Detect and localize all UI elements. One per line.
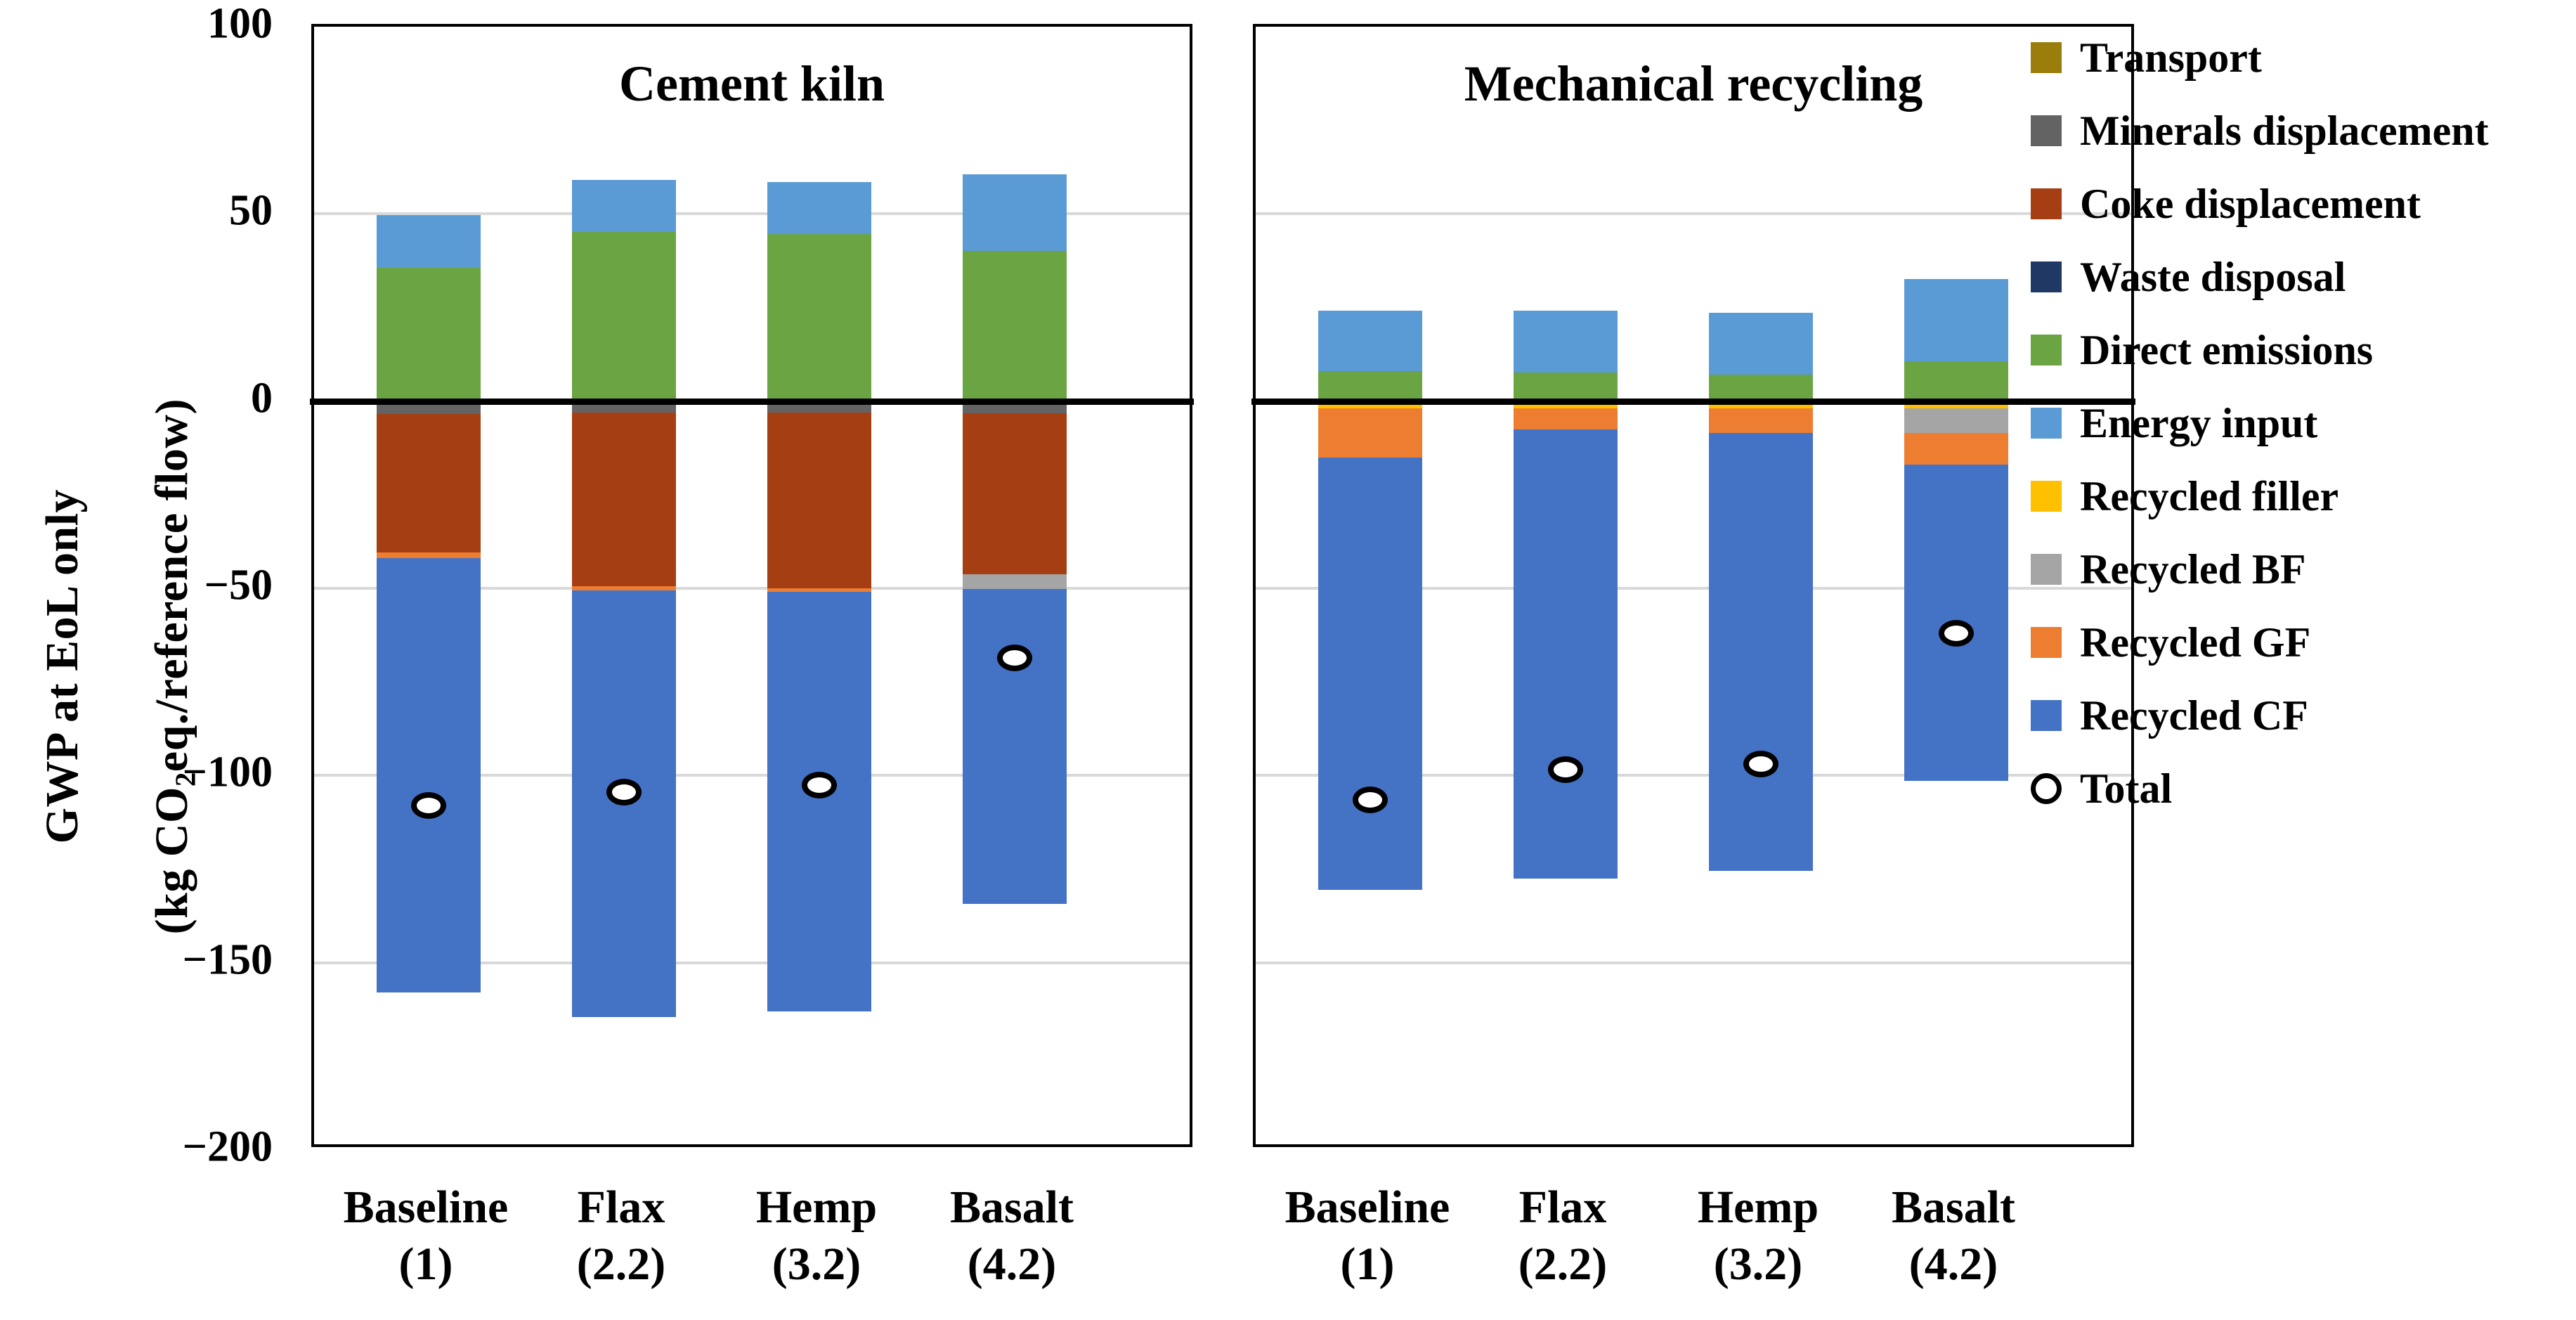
x-axis-category-label: Basalt(4.2) [950, 1179, 1074, 1293]
legend-item[interactable]: Waste disposal [2031, 240, 2565, 313]
bar-segment [963, 413, 1067, 574]
legend-color-swatch-icon [2031, 261, 2062, 292]
total-marker [997, 645, 1032, 671]
x-label-code: (2.2) [1518, 1236, 1607, 1293]
legend-item-label: Total [2080, 765, 2172, 813]
y-axis-tick-label: 0 [251, 373, 273, 423]
bar-segment [1318, 371, 1422, 399]
legend-item[interactable]: Recycled GF [2031, 606, 2565, 679]
zero-axis-line [310, 399, 1194, 405]
total-marker [411, 792, 446, 819]
zero-axis-line [1251, 399, 2135, 405]
x-label-code: (2.2) [577, 1236, 665, 1293]
legend-item[interactable]: Recycled BF [2031, 533, 2565, 606]
bar-segment [1514, 311, 1618, 373]
bar-segment [572, 232, 676, 399]
legend-item[interactable]: Minerals displacement [2031, 94, 2565, 167]
x-axis-category-label: Basalt(4.2) [1892, 1179, 2015, 1293]
total-marker [1939, 620, 1974, 647]
legend-item[interactable]: Recycled filler [2031, 460, 2565, 533]
total-marker [802, 772, 837, 798]
legend-color-swatch-icon [2031, 554, 2062, 585]
legend-item-label: Recycled CF [2080, 692, 2308, 740]
y-axis-tick-label: 100 [207, 0, 273, 49]
legend-item-label: Waste disposal [2080, 253, 2346, 302]
bar-segment [377, 268, 481, 399]
legend-color-swatch-icon [2031, 115, 2062, 146]
bar-segment [1904, 279, 2008, 361]
y-axis-tick-label: −100 [183, 748, 273, 798]
legend-item[interactable]: Total [2031, 752, 2565, 825]
bar-stack[interactable] [377, 27, 481, 1150]
bar-segment [1318, 458, 1422, 890]
y-axis-tick-label: −50 [204, 561, 273, 611]
bar-segment [572, 180, 676, 233]
plot-area-right [1256, 27, 2131, 1144]
x-label-code: (1) [1285, 1236, 1450, 1293]
bar-stack[interactable] [1318, 27, 1422, 1150]
bar-segment [377, 552, 481, 558]
legend-color-swatch-icon [2031, 188, 2062, 219]
bar-segment [1514, 373, 1618, 399]
x-label-name: Hemp [756, 1179, 877, 1236]
x-label-name: Flax [1518, 1179, 1607, 1236]
bar-segment [1904, 433, 2008, 465]
total-marker [1353, 787, 1388, 813]
x-label-name: Flax [577, 1179, 665, 1236]
bar-stack[interactable] [767, 27, 871, 1150]
legend-color-swatch-icon [2031, 481, 2062, 512]
bar-segment [963, 574, 1067, 589]
bar-stack[interactable] [1514, 27, 1618, 1150]
legend-item-label: Energy input [2080, 399, 2317, 448]
x-label-name: Baseline [1285, 1179, 1450, 1236]
y-axis-tick-label: 50 [229, 186, 273, 236]
x-label-code: (4.2) [1892, 1236, 2015, 1293]
plot-area-left [314, 27, 1190, 1144]
legend-color-swatch-icon [2031, 700, 2062, 731]
x-label-code: (4.2) [950, 1236, 1074, 1293]
x-axis-category-label: Flax(2.2) [577, 1179, 665, 1293]
bar-segment [377, 215, 481, 268]
legend-color-swatch-icon [2031, 335, 2062, 365]
panel-cement-kiln: Cement kiln [311, 24, 1192, 1147]
x-label-code: (3.2) [1698, 1236, 1819, 1293]
total-marker [606, 779, 642, 805]
bar-segment [377, 558, 481, 992]
bar-segment [963, 589, 1067, 903]
chart-figure: GWP at EoL only (kg CO2eq./reference flo… [0, 0, 2576, 1319]
x-label-name: Hemp [1698, 1179, 1819, 1236]
bar-segment [767, 592, 871, 1011]
x-axis-category-label: Hemp(3.2) [1698, 1179, 1819, 1293]
bar-segment [1904, 361, 2008, 399]
x-label-code: (3.2) [756, 1236, 877, 1293]
legend-item-label: Recycled BF [2080, 545, 2306, 594]
y-axis-tick-labels: 100500−50−100−150−200 [141, 0, 281, 1195]
x-axis-category-label: Baseline(1) [344, 1179, 509, 1293]
total-marker [1743, 751, 1778, 777]
legend-color-swatch-icon [2031, 627, 2062, 658]
bar-segment [767, 234, 871, 399]
bar-segment [767, 182, 871, 235]
y-axis-title-line1: GWP at EoL only [37, 489, 88, 843]
bar-segment [377, 414, 481, 552]
y-axis-tick-label: −150 [183, 935, 273, 985]
total-marker [1548, 756, 1583, 783]
legend-item-label: Recycled GF [2080, 619, 2310, 667]
legend-color-swatch-icon [2031, 408, 2062, 439]
legend-item-label: Transport [2080, 34, 2262, 82]
legend: TransportMinerals displacementCoke displ… [2031, 21, 2565, 825]
legend-item[interactable]: Energy input [2031, 387, 2565, 460]
x-label-code: (1) [344, 1236, 509, 1293]
bar-segment [1709, 408, 1813, 433]
legend-item[interactable]: Recycled CF [2031, 679, 2565, 752]
bar-stack[interactable] [1709, 27, 1813, 1150]
x-axis-category-label: Flax(2.2) [1518, 1179, 1607, 1293]
bar-segment [1318, 408, 1422, 457]
x-label-name: Basalt [1892, 1179, 2015, 1236]
legend-item[interactable]: Coke displacement [2031, 167, 2565, 240]
x-axis-category-label: Hemp(3.2) [756, 1179, 877, 1293]
bar-stack[interactable] [1904, 27, 2008, 1150]
bar-segment [1709, 313, 1813, 375]
x-axis-category-label: Baseline(1) [1285, 1179, 1450, 1293]
bar-stack[interactable] [963, 27, 1067, 1150]
x-axis-category-labels: Baseline(1)Flax(2.2)Hemp(3.2)Basalt(4.2)… [0, 1158, 2576, 1320]
bar-segment [767, 413, 871, 588]
legend-item[interactable]: Direct emissions [2031, 313, 2565, 387]
panel-mechanical-recycling: Mechanical recycling [1253, 24, 2134, 1147]
bar-stack[interactable] [572, 27, 676, 1150]
bar-segment [572, 413, 676, 587]
bar-segment [963, 174, 1067, 251]
legend-item-label: Recycled filler [2080, 472, 2338, 521]
bar-segment [1514, 408, 1618, 429]
bar-segment [1904, 408, 2008, 433]
legend-item-label: Direct emissions [2080, 326, 2373, 375]
legend-color-swatch-icon [2031, 42, 2062, 73]
legend-item[interactable]: Transport [2031, 21, 2565, 94]
bar-segment [1709, 375, 1813, 399]
bar-segment [963, 251, 1067, 399]
legend-circle-marker-icon [2031, 773, 2062, 804]
x-label-name: Baseline [344, 1179, 509, 1236]
bar-segment [1514, 429, 1618, 879]
x-label-name: Basalt [950, 1179, 1074, 1236]
legend-item-label: Minerals displacement [2080, 107, 2489, 155]
legend-item-label: Coke displacement [2080, 180, 2421, 228]
bar-segment [1709, 433, 1813, 871]
bar-segment [1318, 311, 1422, 370]
